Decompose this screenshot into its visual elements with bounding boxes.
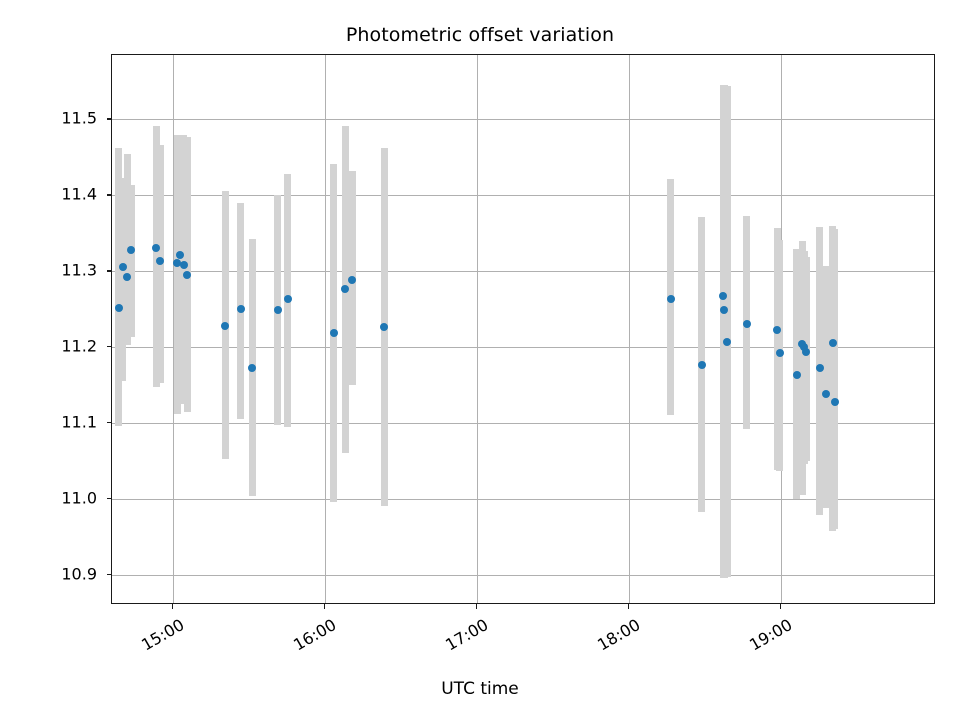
- x-tick-label: 16:00: [280, 615, 340, 660]
- data-point: [341, 285, 349, 293]
- data-point: [119, 263, 127, 271]
- y-tick-label: 10.9: [17, 564, 97, 583]
- gridline-horizontal: [112, 271, 934, 272]
- gridline-vertical: [629, 55, 630, 603]
- y-tick-mark: [107, 194, 112, 195]
- x-tick-mark: [628, 604, 629, 609]
- data-point: [793, 371, 801, 379]
- x-tick-label: 19:00: [736, 615, 796, 660]
- data-point: [156, 257, 164, 265]
- x-tick-label: 18:00: [584, 615, 644, 660]
- errorbar: [128, 185, 135, 337]
- data-point: [831, 398, 839, 406]
- data-point: [330, 329, 338, 337]
- data-point: [176, 251, 184, 259]
- x-tick-mark: [780, 604, 781, 609]
- gridline-horizontal: [112, 347, 934, 348]
- data-point: [274, 306, 282, 314]
- gridline-horizontal: [112, 119, 934, 120]
- data-point: [829, 339, 837, 347]
- y-tick-label: 11.2: [17, 337, 97, 356]
- data-point: [152, 244, 160, 252]
- y-tick-label: 11.1: [17, 412, 97, 431]
- y-tick-mark: [107, 498, 112, 499]
- y-tick-mark: [107, 270, 112, 271]
- data-point: [180, 261, 188, 269]
- data-point: [822, 390, 830, 398]
- x-tick-mark: [324, 604, 325, 609]
- x-tick-mark: [476, 604, 477, 609]
- y-tick-label: 11.3: [17, 261, 97, 280]
- data-point: [816, 364, 824, 372]
- gridline-vertical: [477, 55, 478, 603]
- data-point: [776, 349, 784, 357]
- x-tick-label: 17:00: [432, 615, 492, 660]
- data-point: [743, 320, 751, 328]
- y-tick-label: 11.0: [17, 488, 97, 507]
- x-tick-label: 15:00: [128, 615, 188, 660]
- gridline-vertical: [325, 55, 326, 603]
- data-point: [123, 273, 131, 281]
- errorbar: [831, 229, 838, 529]
- page-title: Photometric offset variation: [0, 24, 960, 46]
- plot-area: [111, 54, 935, 604]
- y-tick-label: 11.4: [17, 185, 97, 204]
- y-tick-mark: [107, 118, 112, 119]
- errorbar: [724, 86, 731, 577]
- y-tick-mark: [107, 574, 112, 575]
- gridline-horizontal: [112, 499, 934, 500]
- matplotlib-figure: Photometric offset variation 10.911.011.…: [0, 0, 960, 720]
- y-tick-mark: [107, 346, 112, 347]
- data-point: [667, 295, 675, 303]
- data-point: [348, 276, 356, 284]
- y-tick-mark: [107, 422, 112, 423]
- data-point: [237, 305, 245, 313]
- y-tick-label: 11.5: [17, 109, 97, 128]
- x-tick-mark: [172, 604, 173, 609]
- gridline-horizontal: [112, 575, 934, 576]
- errorbar: [803, 257, 810, 461]
- x-axis-label: UTC time: [0, 679, 960, 699]
- gridline-horizontal: [112, 195, 934, 196]
- data-point: [284, 295, 292, 303]
- gridline-horizontal: [112, 423, 934, 424]
